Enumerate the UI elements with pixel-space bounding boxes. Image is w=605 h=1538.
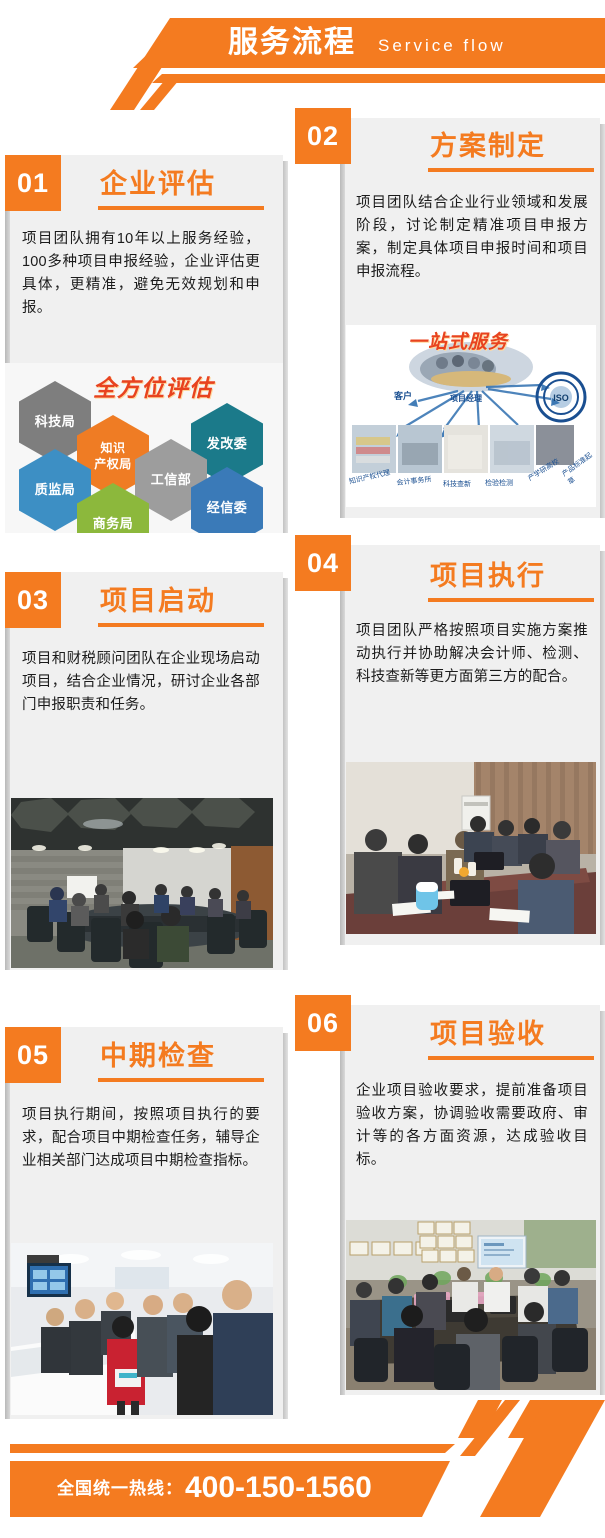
service-diagram-center-label: 项目经理 <box>450 393 482 404</box>
hexagon-node-label: 商务局 <box>93 516 134 532</box>
photo-card-05-svg <box>11 1243 273 1415</box>
title-underline-04 <box>428 598 594 602</box>
step-body-03: 项目和财税顾问团队在企业现场启动项目，结合企业情况，研讨企业各部门申报职责和任务… <box>22 648 260 717</box>
page-title: 服务流程 <box>228 24 356 62</box>
step-body-04: 项目团队严格按照项目实施方案推动执行并协助解决会计师、检测、科技查新等更方面第三… <box>356 620 588 689</box>
footer-wedge-large <box>420 1400 605 1517</box>
photo-card-06-svg <box>346 1220 596 1390</box>
card-left-edge <box>5 1027 10 1419</box>
hexagon-diagram: 全方位评估 科技局 知识产权局 发改委 质监局 工信部 经信委 商务局 <box>5 363 283 533</box>
page-subtitle: Service flow <box>378 34 506 58</box>
header-stripe <box>152 74 605 83</box>
step-title-02: 方案制定 <box>430 130 546 162</box>
card-left-edge <box>340 545 345 945</box>
step-body-05: 项目执行期间，按照项目执行的要求，配合项目中期检查任务，辅导企业相关部门达成项目… <box>22 1104 260 1173</box>
page-header: 服务流程 Service flow <box>0 0 605 110</box>
photo-card-04-svg <box>346 762 596 934</box>
service-diagram-label-3: 检验检测 <box>485 478 513 488</box>
footer-stripe <box>10 1444 455 1453</box>
title-underline-05 <box>98 1078 264 1082</box>
hexagon-node-label: 工信部 <box>151 472 192 488</box>
card-left-edge <box>5 572 10 970</box>
service-diagram-label-2: 科技查新 <box>443 479 471 489</box>
step-title-01: 企业评估 <box>100 168 216 200</box>
step-body-02: 项目团队结合企业行业领域和发展阶段，讨论制定精准项目申报方案，制定具体项目申报时… <box>356 192 588 284</box>
step-badge-01: 01 <box>5 155 61 211</box>
infographic-page: 服务流程 Service flow 01 企业评估 项目团队拥有10年以上服务经… <box>0 0 605 1538</box>
step-title-06: 项目验收 <box>430 1018 546 1050</box>
step-badge-06: 06 <box>295 995 351 1051</box>
hexagon-node-label: 质监局 <box>35 482 76 498</box>
title-underline-03 <box>98 623 264 627</box>
step-badge-03: 03 <box>5 572 61 628</box>
photo-card-04 <box>346 762 596 934</box>
step-title-05: 中期检查 <box>100 1040 216 1072</box>
hexagon-node-label: 知识产权局 <box>94 440 132 472</box>
step-badge-02: 02 <box>295 108 351 164</box>
header-banner <box>133 18 605 68</box>
photo-card-06 <box>346 1220 596 1390</box>
service-diagram-heading: 一站式服务 <box>408 327 508 354</box>
service-diagram-image: ISO 一站式服务 客户 项目经理 知识产权代理 会计事务所 科技查新 检验检测… <box>346 325 596 507</box>
step-body-01: 项目团队拥有10年以上服务经验，100多种项目申报经验，企业评估更具体，更精准，… <box>22 228 260 320</box>
page-footer: 全国统一热线： 400-150-1560 <box>0 1400 605 1525</box>
step-badge-04: 04 <box>295 535 351 591</box>
service-diagram-client-label: 客户 <box>394 389 412 402</box>
svg-text:ISO: ISO <box>553 393 569 403</box>
step-title-04: 项目执行 <box>430 560 546 592</box>
step-body-06: 企业项目验收要求，提前准备项目验收方案，协调验收需要政府、审计等的各方面资源，达… <box>356 1080 588 1172</box>
hotline-number[interactable]: 400-150-1560 <box>185 1470 372 1506</box>
hexagon-diagram-heading: 全方位评估 <box>93 369 213 403</box>
hexagon-node-label: 经信委 <box>207 500 248 516</box>
title-underline-06 <box>428 1056 594 1060</box>
title-underline-02 <box>428 168 594 172</box>
hexagon-node-label: 科技局 <box>35 414 76 430</box>
card-left-edge <box>340 118 345 518</box>
hotline-label: 全国统一热线： <box>57 1477 183 1501</box>
card-left-edge <box>340 1005 345 1395</box>
photo-card-05 <box>11 1243 273 1415</box>
photo-card-03 <box>11 798 273 968</box>
title-underline-01 <box>98 206 264 210</box>
step-title-03: 项目启动 <box>100 585 216 617</box>
hexagon-node-label: 发改委 <box>207 436 248 452</box>
photo-card-03-svg <box>11 798 273 968</box>
step-badge-05: 05 <box>5 1027 61 1083</box>
